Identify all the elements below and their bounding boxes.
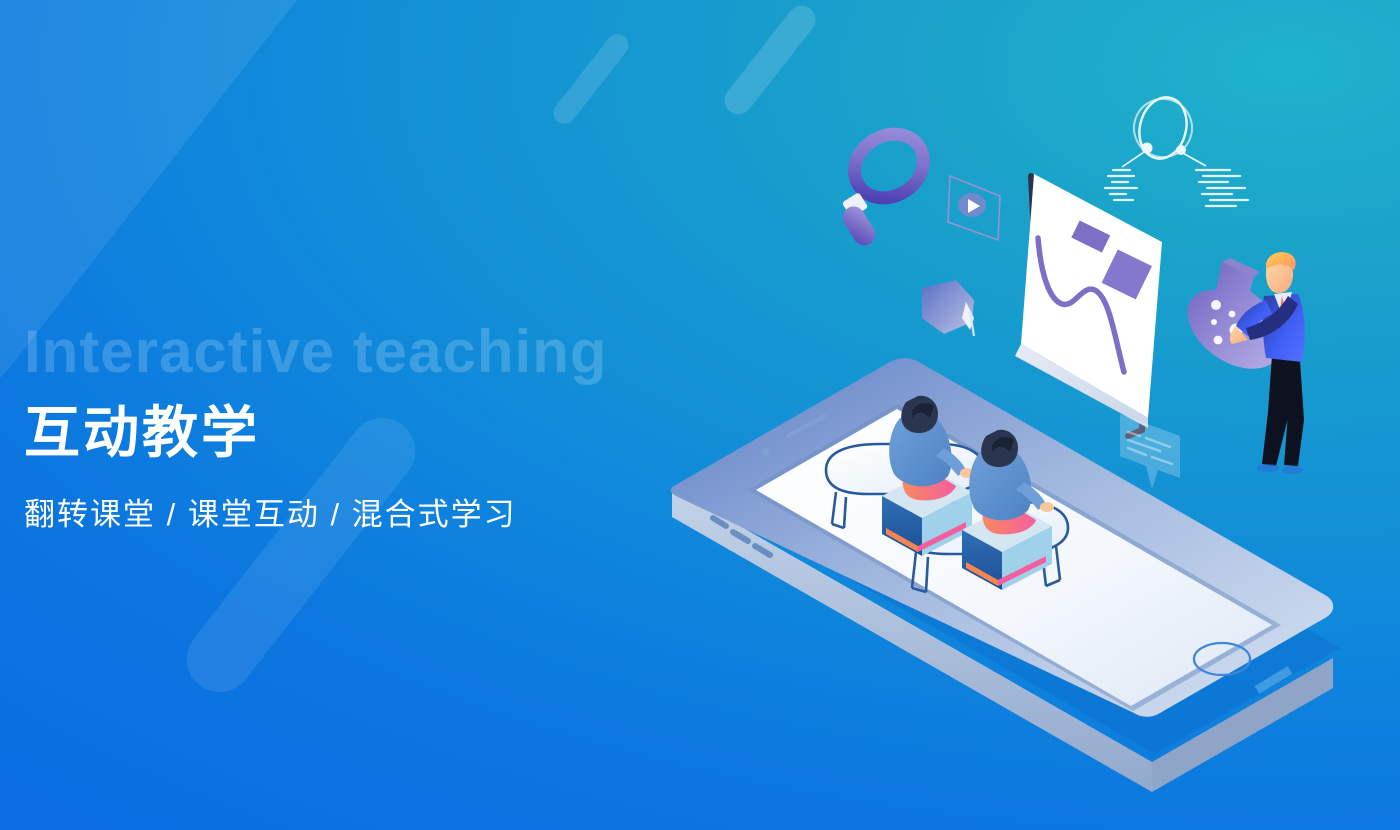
ghost-title: Interactive teaching	[24, 322, 744, 382]
tablet-device[interactable]	[671, 358, 1340, 792]
page-title: 互动教学	[24, 404, 744, 463]
chat-bubble-icon	[1120, 414, 1180, 489]
hero-text-block: Interactive teaching 互动教学 翻转课堂 / 课堂互动 / …	[24, 322, 744, 534]
magnifier-icon	[839, 121, 936, 249]
video-play-icon	[948, 176, 1000, 240]
page-subtitle: 翻转课堂 / 课堂互动 / 混合式学习	[24, 489, 744, 534]
idea-ring-icon	[1105, 90, 1248, 206]
hero-banner: Interactive teaching 互动教学 翻转课堂 / 课堂互动 / …	[0, 0, 1400, 830]
graduation-cap-icon	[922, 280, 974, 336]
whiteboard-easel	[1015, 174, 1162, 436]
